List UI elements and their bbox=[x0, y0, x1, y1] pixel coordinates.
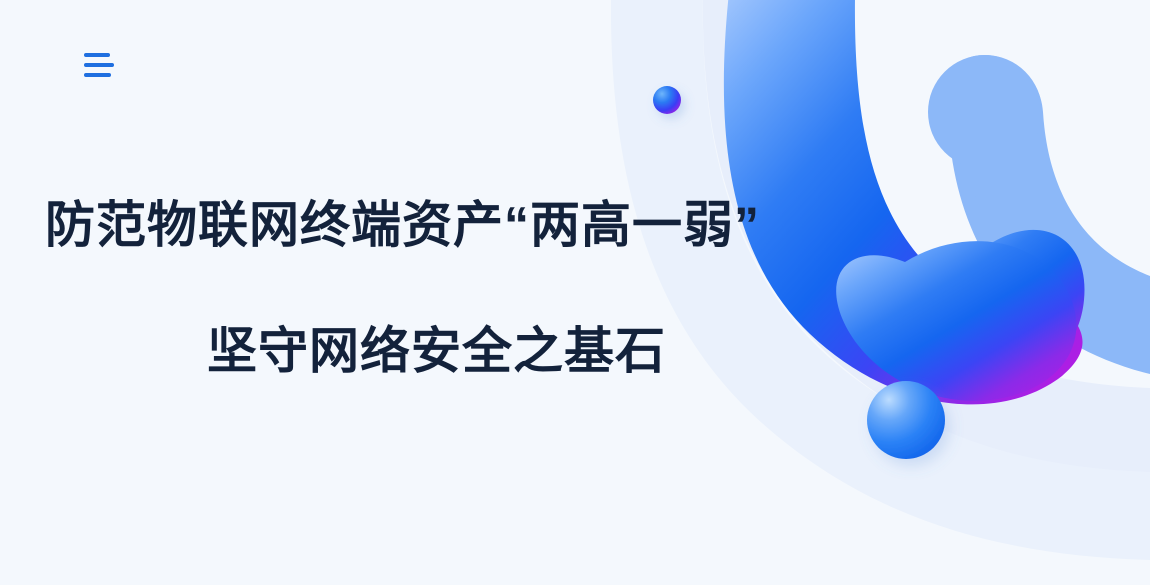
page-title: 防范物联网终端资产“两高一弱” 坚守网络安全之基石 bbox=[0, 188, 880, 388]
small-gradient-sphere bbox=[653, 86, 681, 114]
hamburger-menu-icon[interactable] bbox=[84, 51, 115, 79]
light-blue-arc bbox=[928, 55, 1150, 378]
slide-canvas: 防范物联网终端资产“两高一弱” 坚守网络安全之基石 bbox=[0, 0, 1150, 585]
hamburger-bar-bottom bbox=[84, 73, 111, 77]
hamburger-bar-top bbox=[84, 53, 110, 57]
title-line-1: 防范物联网终端资产“两高一弱” bbox=[0, 188, 880, 262]
title-line-2: 坚守网络安全之基石 bbox=[0, 314, 880, 388]
large-blue-sphere bbox=[867, 381, 945, 459]
hamburger-bar-middle bbox=[84, 63, 114, 67]
